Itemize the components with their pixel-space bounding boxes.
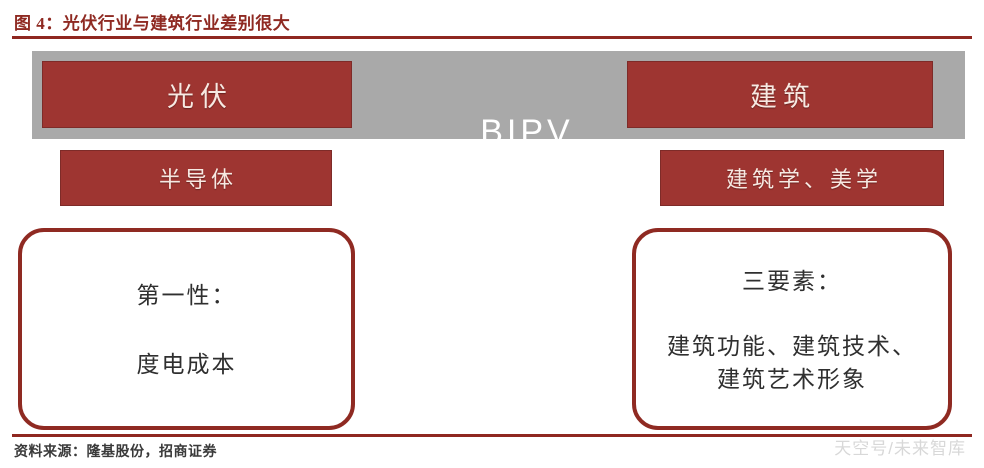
bipv-label: BIPV xyxy=(422,113,632,152)
subchip-architecture-aesthetics: 建筑学、美学 xyxy=(660,150,944,206)
subchip-semiconductor: 半导体 xyxy=(60,150,332,206)
footer-divider xyxy=(12,434,972,437)
card-photovoltaic: 第一性： 度电成本 xyxy=(18,228,355,430)
source-note: 资料来源：隆基股份，招商证券 xyxy=(14,441,217,461)
chip-architecture: 建筑 xyxy=(627,61,933,128)
chip-photovoltaic: 光伏 xyxy=(42,61,352,128)
card-architecture: 三要素： 建筑功能、建筑技术、建筑艺术形象 xyxy=(632,228,952,430)
card-photovoltaic-heading: 第一性： xyxy=(137,276,237,310)
title-divider xyxy=(12,36,972,39)
bipv-band: 光伏 BIPV 建筑 xyxy=(32,51,965,139)
card-architecture-body: 建筑功能、建筑技术、建筑艺术形象 xyxy=(667,330,917,397)
page-title: 图 4：光伏行业与建筑行业差别很大 xyxy=(14,9,290,34)
card-photovoltaic-body: 度电成本 xyxy=(137,348,237,381)
watermark: 天空号/未来智库 xyxy=(834,434,966,459)
card-architecture-heading: 三要素： xyxy=(742,262,842,296)
